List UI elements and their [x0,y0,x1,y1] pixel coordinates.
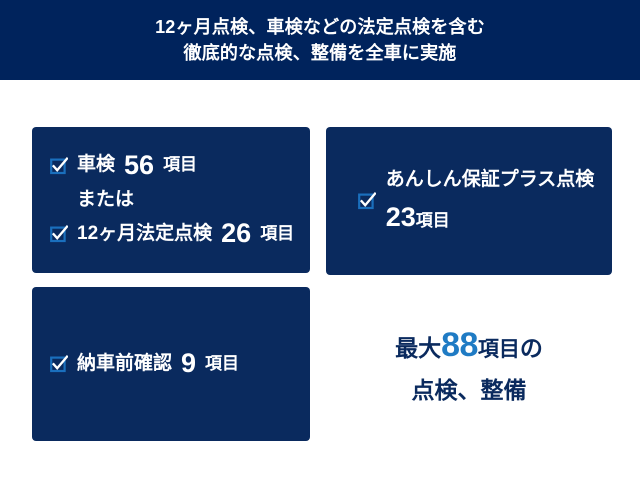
summary-unit: 項目 [478,333,520,363]
check-icon [50,157,68,175]
summary-suffix: の [520,329,543,363]
check-icon [50,225,68,243]
header-title-line-2: 徹底的な点検、整備を全車に実施 [184,42,457,65]
card-warranty-plus-inspection-body: あんしん保証プラス点検 23 項目 [326,127,612,275]
card2-line-1: あんしん保証プラス点検 [386,170,595,191]
summary-line-1: 最大 88 項目 の [395,326,543,365]
check-icon [50,355,68,373]
card2-text-stack: あんしん保証プラス点検 23 項目 [386,170,595,233]
summary-number: 88 [441,326,478,365]
header-banner: 12ヶ月点検、車検などの法定点検を含む 徹底的な点検、整備を全車に実施 [0,0,640,80]
summary-line-2: 点検、整備 [412,371,527,405]
card2-number: 23 [386,203,416,233]
card1-row1-number: 56 [124,151,154,181]
list-item-separator: または [50,190,310,211]
card3-label: 納車前確認 [77,354,172,375]
summary-total-items: 最大 88 項目 の 点検、整備 [326,300,612,430]
card1-row1-label: 車検 [77,155,115,176]
summary-prefix: 最大 [395,329,441,363]
card2-line-2: 23 項目 [386,203,595,233]
list-item: 納車前確認 9 項目 [50,349,310,379]
list-item: 車検 56 項目 [50,151,310,181]
card1-row3-unit: 項目 [260,225,294,244]
promo-graphic-root: 12ヶ月点検、車検などの法定点検を含む 徹底的な点検、整備を全車に実施 車検 5… [0,0,640,480]
list-item: 12ヶ月法定点検 26 項目 [50,219,310,249]
card1-row3-label: 12ヶ月法定点検 [77,224,212,245]
card-pre-delivery-check: 納車前確認 9 項目 [32,287,310,441]
card-warranty-plus-inspection: あんしん保証プラス点検 23 項目 [326,127,612,275]
card1-row1-unit: 項目 [163,156,197,175]
card2-unit: 項目 [416,212,450,231]
card-inspection-items: 車検 56 項目 または 12ヶ月法定点検 26 項目 [32,127,310,273]
card3-unit: 項目 [205,355,239,374]
card3-number: 9 [181,349,196,379]
header-title-line-1: 12ヶ月点検、車検などの法定点検を含む [155,16,485,39]
card1-row2-label: または [77,190,134,211]
card1-row3-number: 26 [221,219,251,249]
card-inspection-items-body: 車検 56 項目 または 12ヶ月法定点検 26 項目 [32,127,310,273]
card-pre-delivery-check-body: 納車前確認 9 項目 [32,287,310,441]
check-icon [358,192,376,210]
